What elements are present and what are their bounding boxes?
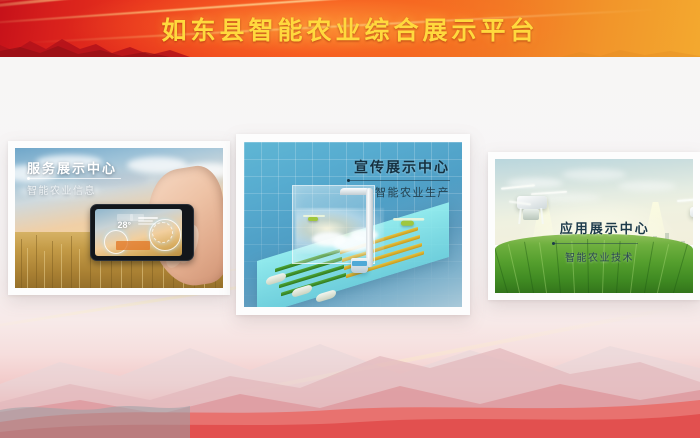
card-promotion-subtitle: 智能农业生产 — [375, 184, 450, 200]
temperature-readout: 28° — [117, 220, 131, 230]
hud-dock — [116, 241, 150, 250]
mountain-ridge-foreground — [0, 392, 700, 438]
smartphone-icon: 28° — [90, 204, 194, 261]
water-bucket — [351, 258, 368, 273]
card-promotion-image: 宣传展示中心 智能农业生产 — [244, 142, 462, 307]
header-banner: 如东县智能农业综合展示平台 — [0, 0, 700, 57]
card-promotion-display-center[interactable]: 宣传展示中心 智能农业生产 — [236, 134, 470, 315]
page-title: 如东县智能农业综合展示平台 — [0, 0, 700, 57]
card-promotion-dot — [347, 179, 350, 182]
hud-bar — [138, 223, 156, 225]
card-service-divider — [27, 178, 121, 179]
card-application-divider — [552, 243, 638, 244]
page-root: 如东县智能农业综合展示平台 — [0, 0, 700, 438]
phone-screen: 28° — [95, 209, 182, 256]
card-service-display-center[interactable]: 28° 服务展示中心 智能农业信息 — [8, 141, 230, 295]
card-service-subtitle: 智能农业信息 — [27, 182, 96, 197]
hud-panel — [130, 214, 144, 221]
card-service-title: 服务展示中心 — [27, 158, 117, 177]
card-service-dot — [27, 177, 30, 180]
card-application-subtitle: 智能农业技术 — [565, 249, 634, 264]
card-promotion-divider — [348, 180, 450, 181]
card-application-image: 应用展示中心 智能农业技术 — [495, 159, 693, 293]
card-application-title: 应用展示中心 — [560, 218, 650, 237]
card-application-display-center[interactable]: 应用展示中心 智能农业技术 — [488, 152, 700, 300]
glass-enclosure — [292, 185, 375, 264]
card-promotion-title: 宣传展示中心 — [354, 157, 450, 177]
card-service-image: 28° 服务展示中心 智能农业信息 — [15, 148, 223, 288]
sensor-pole — [366, 188, 373, 267]
